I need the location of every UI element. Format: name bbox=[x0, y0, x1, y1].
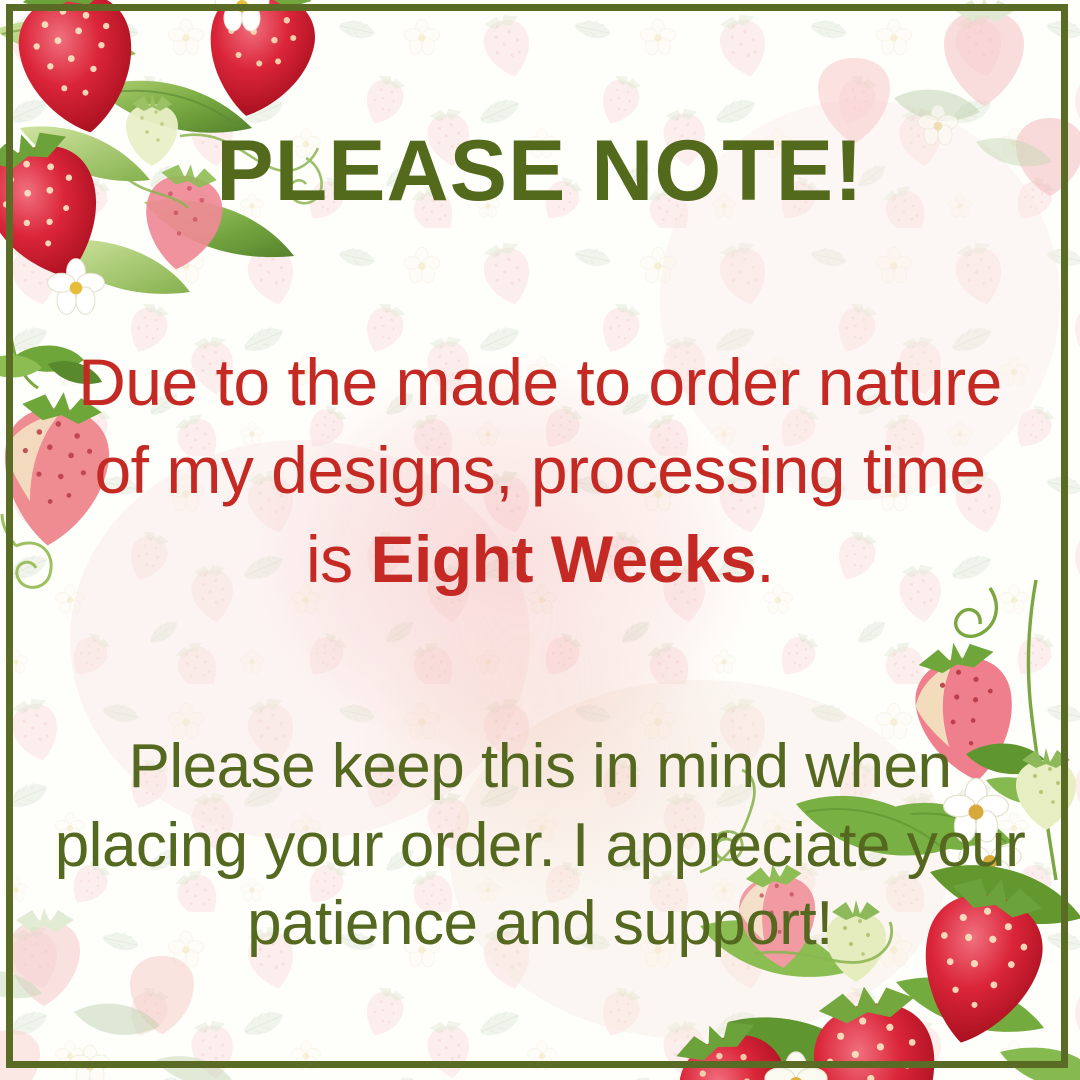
processing-time-emphasis: Eight Weeks bbox=[370, 522, 756, 596]
processing-time-message: Due to the made to order nature of my de… bbox=[78, 338, 1002, 603]
strawberry-notice-graphic: PLEASE NOTE! Due to the made to order na… bbox=[0, 0, 1080, 1080]
patience-message: Please keep this in mind when placing yo… bbox=[54, 728, 1026, 964]
processing-time-trail: . bbox=[756, 522, 774, 596]
page-title: PLEASE NOTE! bbox=[0, 128, 1080, 214]
notice-content: PLEASE NOTE! Due to the made to order na… bbox=[0, 0, 1080, 1080]
